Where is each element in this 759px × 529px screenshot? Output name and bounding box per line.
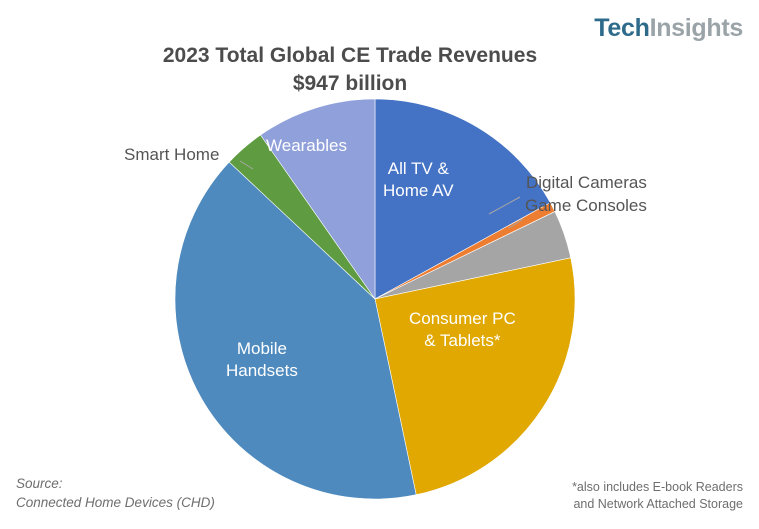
slice-label-smart-home: Smart Home: [124, 144, 219, 167]
source-note-line2: Connected Home Devices (CHD): [16, 494, 215, 513]
asterisk-footnote: *also includes E-book Readers and Networ…: [572, 479, 743, 513]
slice-label-consumer-pc-tablets-line1: Consumer PC: [409, 308, 516, 330]
pie-svg: [0, 0, 759, 529]
slice-label-mobile-handsets-line2: Handsets: [226, 360, 298, 382]
slice-label-thin-slices: Digital Cameras Game Consoles: [525, 172, 647, 218]
asterisk-footnote-line2: and Network Attached Storage: [572, 496, 743, 513]
source-note-line1: Source:: [16, 475, 215, 494]
source-note: Source: Connected Home Devices (CHD): [16, 475, 215, 513]
slice-label-all-tv-home-av-line1: All TV &: [383, 158, 454, 180]
pie-slice-group: [175, 99, 575, 499]
asterisk-footnote-line1: *also includes E-book Readers: [572, 479, 743, 496]
slice-label-digital-cameras: Digital Cameras: [526, 173, 647, 192]
slice-label-game-consoles: Game Consoles: [525, 195, 647, 218]
slice-label-consumer-pc-tablets: Consumer PC & Tablets*: [409, 308, 516, 352]
slice-label-wearables: Wearables: [266, 135, 347, 157]
slice-label-mobile-handsets-line1: Mobile: [226, 338, 298, 360]
slice-label-mobile-handsets: Mobile Handsets: [226, 338, 298, 382]
slice-label-consumer-pc-tablets-line2: & Tablets*: [409, 330, 516, 352]
slice-label-all-tv-home-av: All TV & Home AV: [383, 158, 454, 202]
chart-canvas: TechInsights 2023 Total Global CE Trade …: [0, 0, 759, 529]
pie-chart: [0, 0, 759, 529]
slice-label-all-tv-home-av-line2: Home AV: [383, 180, 454, 202]
